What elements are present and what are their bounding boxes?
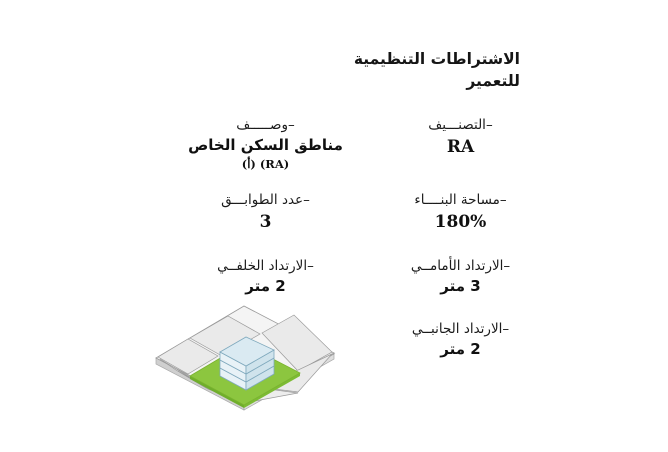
spec-value-side-setback: 2 متر — [363, 339, 558, 361]
lead-dash-icon: – — [486, 117, 493, 133]
spec-label-text: الارتداد الجانبــي — [412, 321, 503, 337]
spec-label-text: الارتداد الخلفــي — [217, 258, 307, 274]
spec-item-classification: –التصنـــيف RA — [363, 115, 558, 178]
spec-value-classification: RA — [363, 135, 558, 160]
page-title: الاشتراطات التنظيمية للتعمير — [230, 48, 520, 93]
spec-label-text: الارتداد الأمامــي — [411, 258, 504, 274]
spec-label-side-setback: –الارتداد الجانبــي — [363, 319, 558, 339]
spec-label-building-area: –مساحة البنــــاء — [363, 190, 558, 210]
lead-dash-icon: – — [303, 192, 310, 208]
spec-item-floors: –عدد الطوابـــق 3 — [168, 190, 363, 241]
spec-item-description: –وصـــــف مناطق السكن الخاص (أ) (RA) — [168, 115, 363, 178]
spec-label-front-setback: –الارتداد الأمامــي — [363, 256, 558, 276]
spec-value-floors: 3 — [168, 210, 363, 235]
spec-item-side-setback: –الارتداد الجانبــي 2 متر — [363, 319, 558, 367]
spec-value-front-setback: 3 متر — [363, 276, 558, 298]
spec-value-description-code: (أ) (RA) — [168, 157, 363, 172]
page-root: الاشتراطات التنظيمية للتعمير –التصنـــيف… — [0, 0, 668, 452]
spec-value-building-area: 180% — [363, 210, 558, 235]
spec-value-description: مناطق السكن الخاص — [168, 135, 363, 157]
lead-dash-icon: – — [288, 117, 295, 133]
lead-dash-icon: – — [502, 321, 509, 337]
isometric-plot-svg — [148, 296, 348, 416]
spec-label-text: مساحة البنــــاء — [414, 192, 500, 208]
page-title-line-2: للتعمير — [230, 70, 520, 92]
spec-row: –التصنـــيف RA –وصـــــف مناطق السكن الخ… — [168, 115, 558, 178]
lead-dash-icon: – — [503, 258, 510, 274]
spec-label-floors: –عدد الطوابـــق — [168, 190, 363, 210]
spec-label-text: عدد الطوابـــق — [221, 192, 303, 208]
spec-label-rear-setback: –الارتداد الخلفــي — [168, 256, 363, 276]
spec-row: –مساحة البنــــاء 180% –عدد الطوابـــق 3 — [168, 190, 558, 241]
spec-value-rear-setback: 2 متر — [168, 276, 363, 298]
page-title-line-1: الاشتراطات التنظيمية — [230, 48, 520, 70]
lead-dash-icon: – — [307, 258, 314, 274]
spec-item-front-setback: –الارتداد الأمامــي 3 متر — [363, 256, 558, 304]
spec-label-text: التصنـــيف — [428, 117, 486, 133]
spec-label-text: وصـــــف — [236, 117, 288, 133]
spec-label-classification: –التصنـــيف — [363, 115, 558, 135]
isometric-plot-diagram — [148, 296, 348, 416]
spec-label-description: –وصـــــف — [168, 115, 363, 135]
lead-dash-icon: – — [500, 192, 507, 208]
spec-item-building-area: –مساحة البنــــاء 180% — [363, 190, 558, 241]
